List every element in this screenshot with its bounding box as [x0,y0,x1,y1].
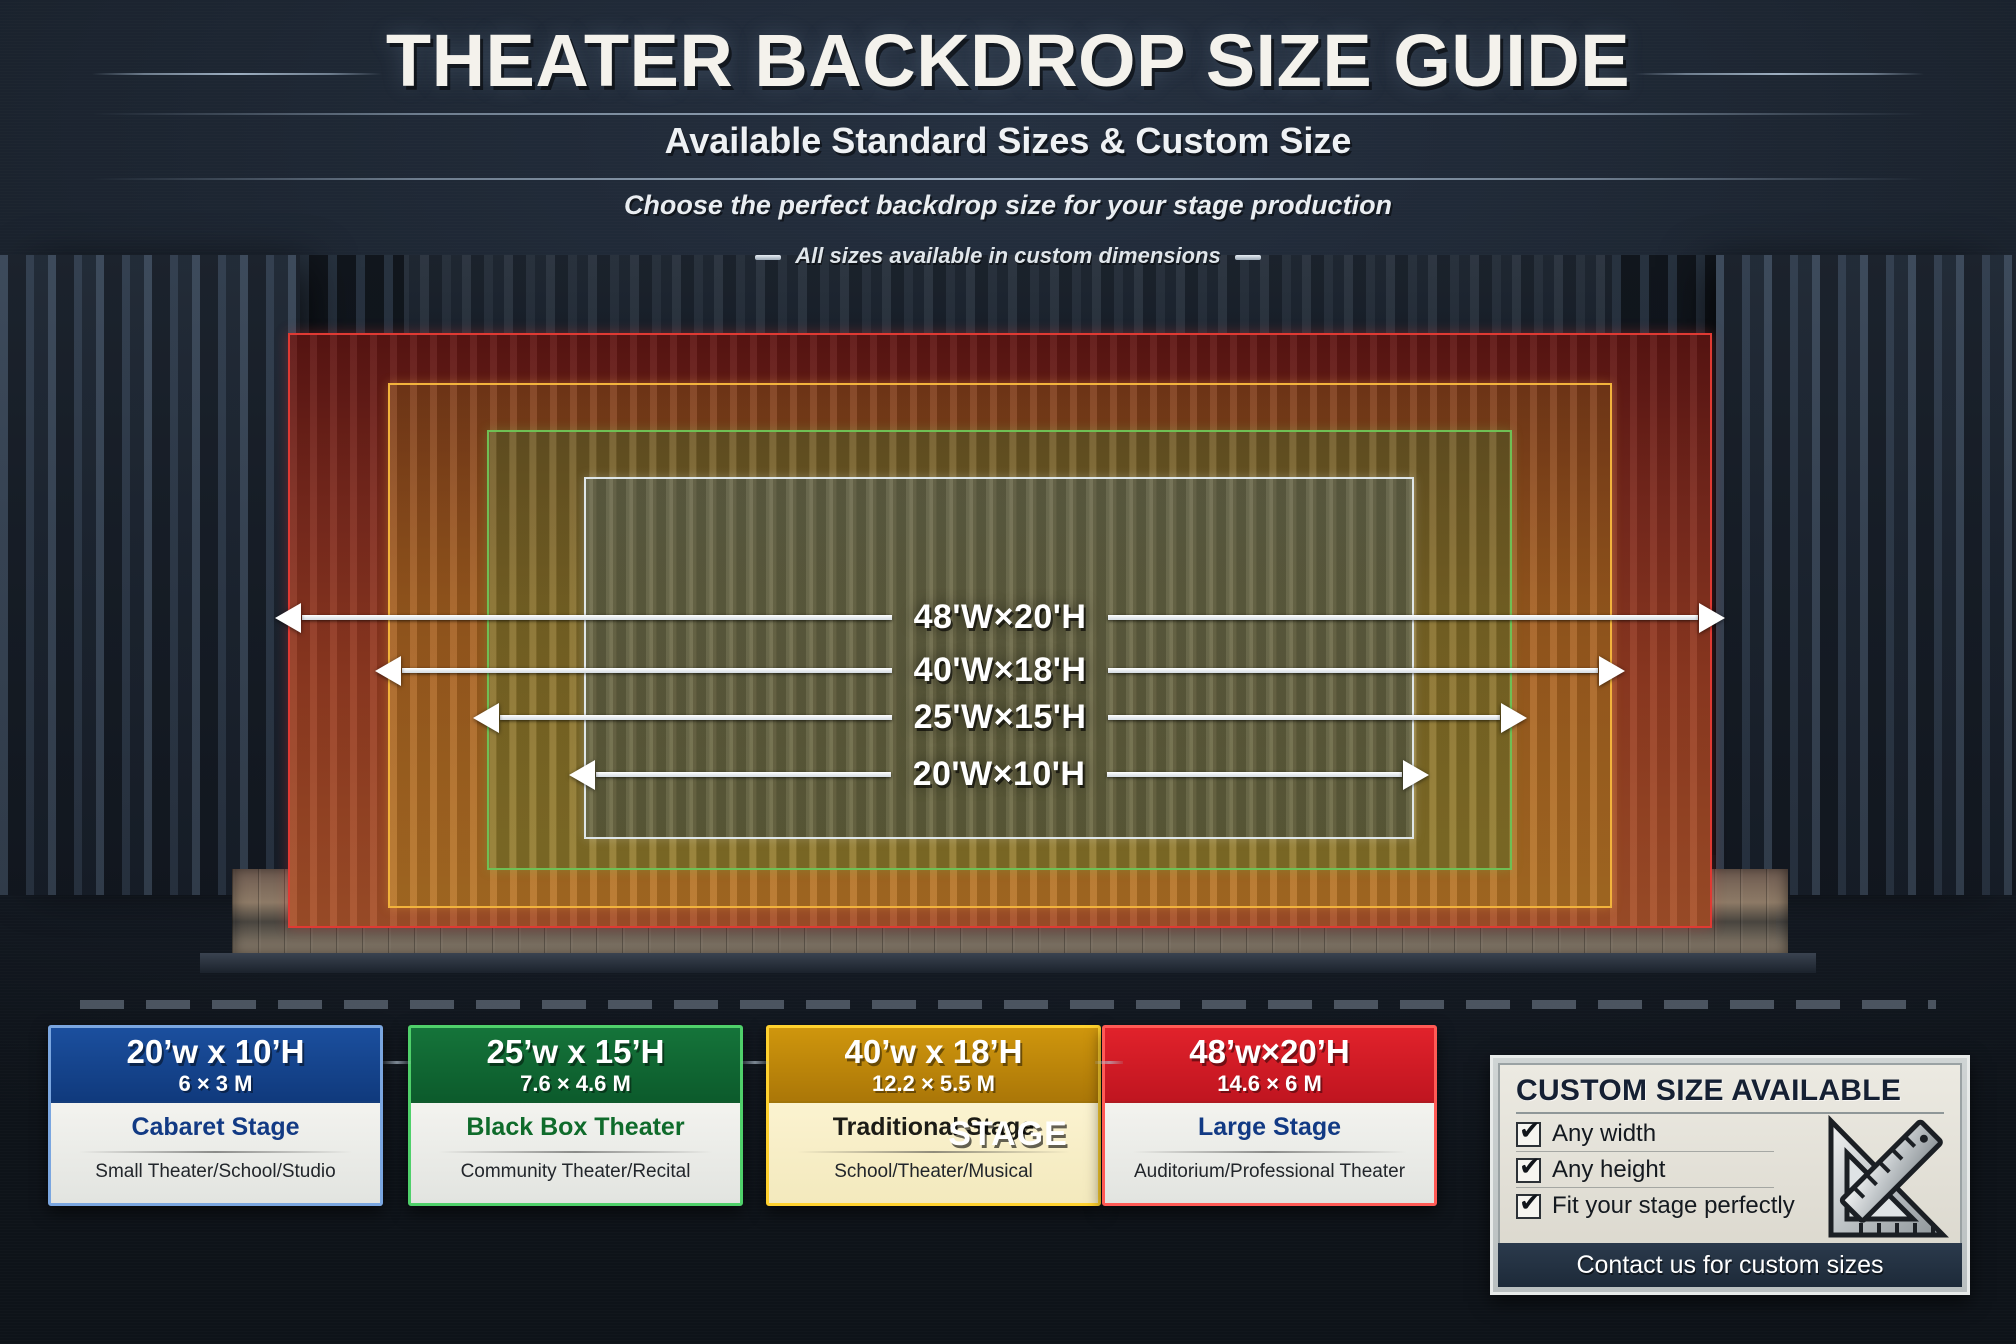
card-imperial-size: 40’w x 18’H [769,1035,1098,1070]
page-subtitle: Available Standard Sizes & Custom Size [0,120,2016,162]
custom-size-panel[interactable]: CUSTOM SIZE AVAILABLE Any width Any heig… [1490,1055,1970,1295]
page-title: THEATER BACKDROP SIZE GUIDE [0,24,2016,98]
microline-text: All sizes available in custom dimensions [795,243,1220,268]
section-divider [80,1000,1936,1009]
card-metric-size: 6 × 3 M [51,1071,380,1097]
stage-apron [200,953,1816,973]
custom-feature-label: Any height [1552,1156,1665,1184]
card-imperial-size: 20’w x 10’H [51,1035,380,1070]
page-tagline: Choose the perfect backdrop size for you… [0,190,2016,221]
card-imperial-size: 48’w×20’H [1105,1035,1434,1070]
curtain-left [0,255,300,895]
card-connector [1095,1061,1123,1064]
dash-right-icon [1235,255,1261,260]
checkbox-checked-icon [1516,1122,1541,1147]
header: THEATER BACKDROP SIZE GUIDE Available St… [0,0,2016,270]
checkbox-checked-icon [1516,1194,1541,1219]
card-connector [741,1061,769,1064]
custom-size-title: CUSTOM SIZE AVAILABLE [1516,1074,1944,1108]
card-connector [383,1061,411,1064]
page-microline: All sizes available in custom dimensions [0,243,2016,269]
stage-diagram: 48'W×20'H 40'W×18'H 25'W×15'H 20'W×10'H … [0,255,2016,975]
custom-size-rule [1516,1112,1944,1114]
custom-feature-divider [1516,1151,1774,1152]
checkbox-checked-icon [1516,1158,1541,1183]
ruler-triangle-icon [1821,1115,1949,1243]
dash-left-icon [755,255,781,260]
size-rect-20x10[interactable] [584,477,1414,839]
card-header: 25’w x 15’H 7.6 × 4.6 M [411,1028,740,1103]
card-metric-size: 12.2 × 5.5 M [769,1071,1098,1097]
custom-size-footer[interactable]: Contact us for custom sizes [1498,1243,1962,1287]
header-rule-mid [92,113,1924,115]
header-rule-lower [92,178,1924,180]
curtain-right [1716,255,2016,895]
card-usage: Small Theater/School/Studio [61,1161,370,1184]
custom-feature-label: Any width [1552,1120,1656,1148]
card-imperial-size: 25’w x 15’H [411,1035,740,1070]
card-usage: School/Theater/Musical [779,1161,1088,1184]
custom-size-footer-label: Contact us for custom sizes [1576,1251,1883,1280]
card-header: 48’w×20’H 14.6 × 6 M [1105,1028,1434,1103]
custom-feature-divider [1516,1187,1774,1188]
card-header: 20’w x 10’H 6 × 3 M [51,1028,380,1103]
custom-size-panel-inner: CUSTOM SIZE AVAILABLE Any width Any heig… [1498,1063,1962,1249]
card-usage: Auditorium/Professional Theater [1115,1161,1424,1184]
card-metric-size: 14.6 × 6 M [1105,1071,1434,1097]
rect-texture [586,479,1412,837]
card-header: 40’w x 18’H 12.2 × 5.5 M [769,1028,1098,1103]
card-metric-size: 7.6 × 4.6 M [411,1071,740,1097]
card-usage: Community Theater/Recital [421,1161,730,1184]
infographic-root: THEATER BACKDROP SIZE GUIDE Available St… [0,0,2016,1344]
custom-feature-label: Fit your stage perfectly [1552,1192,1795,1220]
